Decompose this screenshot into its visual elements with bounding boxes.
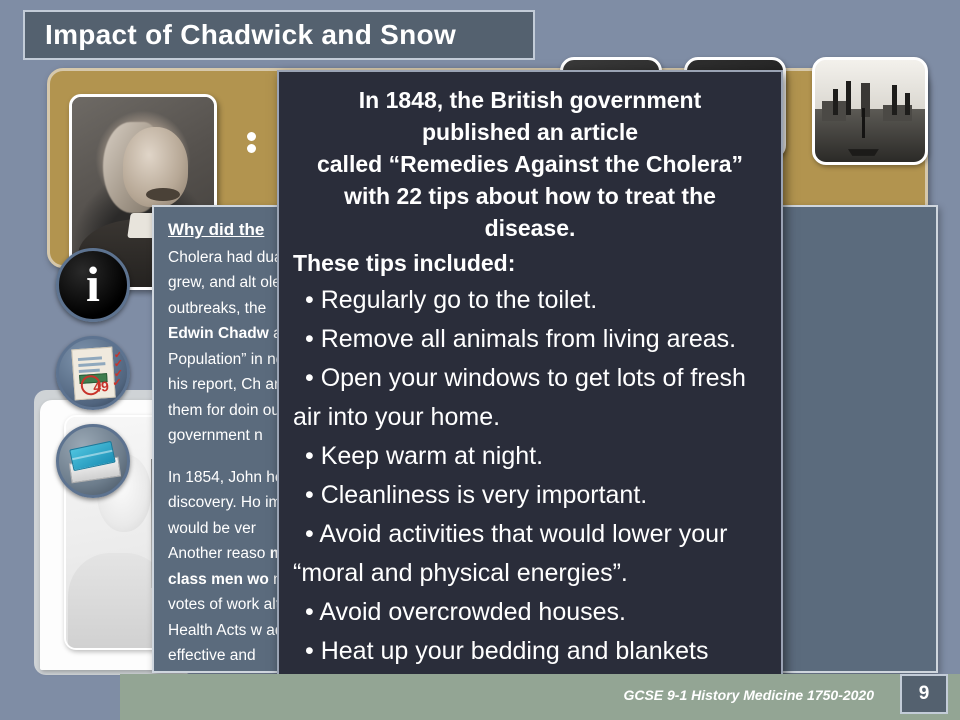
page-number-badge: 9 [900,674,948,714]
info-line-bold: class men wo [168,571,269,588]
info-line: government n [168,427,263,444]
overlay-tip-item: Keep warm at night. [293,437,767,476]
info-line: In 1854, John [168,469,262,486]
info-line-bold: Edwin Chadw [168,325,269,342]
footer-bar: GCSE 9-1 History Medicine 1750-2020 [120,674,960,720]
quiz-icon-line [78,362,106,367]
overlay-tip-item: Regularly go to the toilet. [293,281,767,320]
footer-text: GCSE 9-1 History Medicine 1750-2020 [623,687,874,703]
thumbnail-chimney [846,81,851,115]
info-line: them for doin [168,402,258,419]
overlay-intro-line: with 22 tips about how to treat the [344,183,716,209]
quiz-icon-paper: 49 [71,346,116,400]
info-line: Health Acts w [168,622,262,639]
overlay-tip-item: Remove all animals from living areas. [293,320,767,359]
overlay-intro-line: published an article [422,119,638,145]
page-number: 9 [919,683,930,705]
thumbnail-chimney [892,85,897,115]
slide-canvas: Impact of Chadwick and Snow Ed [0,0,960,720]
thumbnail-chimney [833,89,838,115]
thumbnail-chimney [905,93,910,115]
slide-title-banner: Impact of Chadwick and Snow [23,10,535,60]
info-icon-glyph: i [86,259,100,309]
overlay-intro: In 1848, the British government publishe… [293,84,767,244]
info-line: discovery. Ho [168,494,261,511]
info-line: Another reaso [168,545,265,562]
overlay-intro-line: In 1848, the British government [359,87,702,113]
industrial-city-engraving-thumbnail[interactable] [812,57,928,165]
overlay-intro-line: disease. [485,215,576,241]
info-line: effective and [168,647,256,664]
overlay-tip-item: Avoid overcrowded houses. [293,593,767,632]
quiz-icon[interactable]: 49 ✓ ✓ ✓ ✓ [56,336,130,410]
info-line: grew, and alt [168,274,256,291]
info-line: Population” in [168,351,263,368]
overlay-tip-item: Avoid activities that would lower your “… [293,515,767,593]
overlay-intro-line: called “Remedies Against the Cholera” [317,151,743,177]
info-icon[interactable]: i [56,248,130,322]
info-line: Cholera had [168,249,252,266]
info-line: his report, Ch [168,376,261,393]
overlay-tip-item: Open your windows to get lots of fresh a… [293,359,767,437]
info-line: votes of work [168,596,259,613]
books-icon[interactable] [56,424,130,498]
quiz-icon-line [77,356,102,361]
overlay-tips-list: Regularly go to the toilet. Remove all a… [293,281,767,682]
overlay-subheading: These tips included: [293,246,767,280]
check-icon: ✓ [112,378,121,389]
quiz-icon-line [78,368,100,373]
page-title: Impact of Chadwick and Snow [25,19,456,51]
overlay-tip-item: Cleanliness is very important. [293,476,767,515]
thumbnail-mast [862,108,865,138]
info-line: would be ver [168,520,256,537]
info-line: outbreaks, the [168,300,266,317]
quiz-icon-score: 49 [92,378,109,395]
cholera-remedies-overlay: In 1848, the British government publishe… [277,70,783,682]
